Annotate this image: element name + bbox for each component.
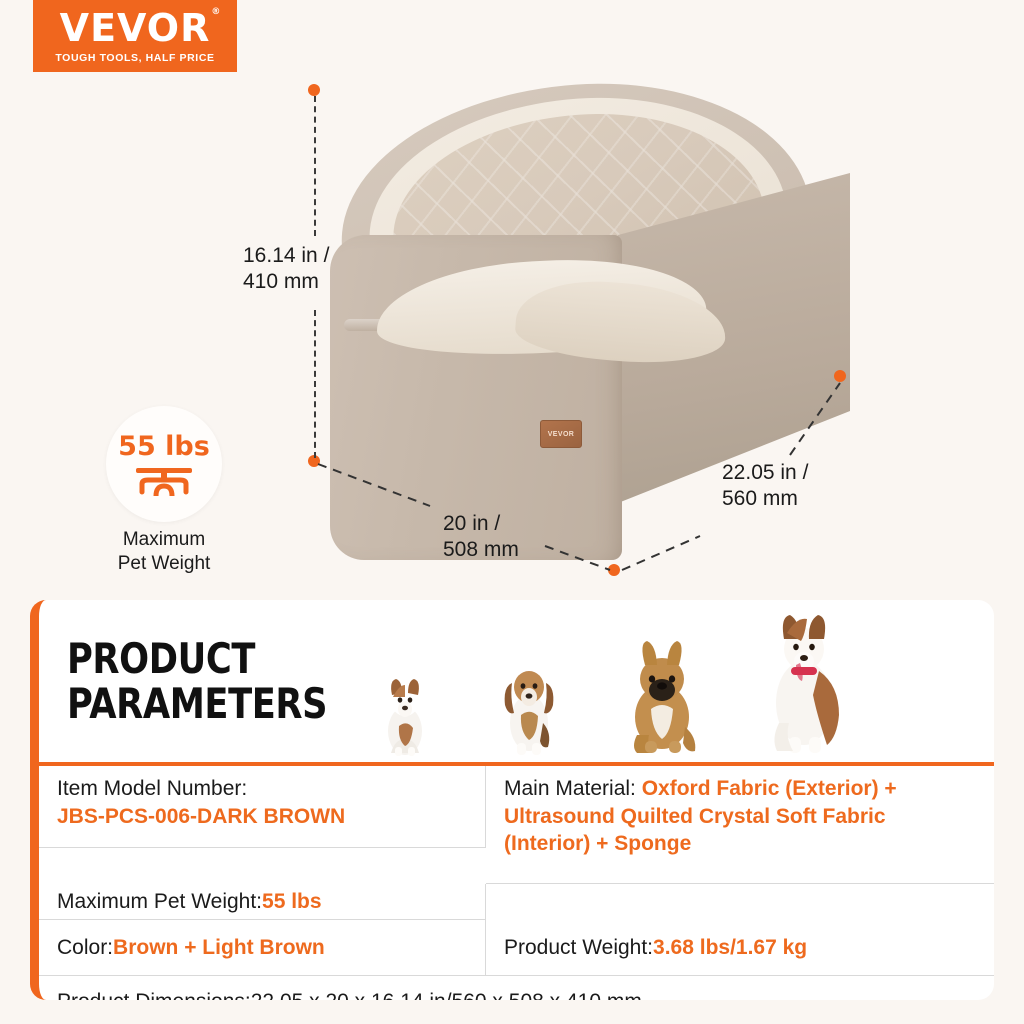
model-value: JBS-PCS-006-DARK BROWN — [57, 803, 345, 831]
dog-pit-bull-terrier — [747, 611, 865, 762]
dimension-height-line1: 16.14 in / — [243, 243, 329, 269]
product-parameters-card: PRODUCT PARAMETERS — [30, 600, 994, 1000]
dimension-height-line2: 410 mm — [243, 269, 329, 295]
dimension-width-line2: 508 mm — [443, 537, 519, 563]
weight-scale-icon — [132, 462, 196, 496]
table-cell-spacer — [486, 884, 994, 920]
dimension-label-depth: 22.05 in / 560 mm — [722, 460, 808, 511]
page-title-line1: PRODUCT — [67, 636, 327, 681]
max-weight-badge: 55 lbs Maximum Pet Weight — [96, 406, 232, 576]
max-weight-label: Maximum Pet Weight: — [57, 888, 262, 916]
dimensions-label: Product Dimensions: — [57, 990, 251, 1000]
table-cell-material: Main Material: Oxford Fabric (Exterior) … — [486, 766, 994, 884]
table-cell-max-weight: Maximum Pet Weight: 55 lbs — [39, 884, 486, 920]
max-weight-table-value: 55 lbs — [262, 888, 322, 916]
card-header: PRODUCT PARAMETERS — [39, 600, 994, 766]
page-title: PRODUCT PARAMETERS — [67, 636, 327, 727]
dimension-dot-right — [834, 370, 846, 382]
dog-jack-russell-terrier — [359, 671, 451, 762]
table-cell-color: Color: Brown + Light Brown — [39, 920, 486, 976]
dimension-line-height-lower — [314, 310, 316, 458]
table-cell-product-weight: Product Weight: 3.68 lbs/1.67 kg — [486, 920, 994, 976]
dimension-depth-line2: 560 mm — [722, 486, 808, 512]
dog-french-bulldog — [607, 639, 717, 762]
dimension-dot-top-left — [308, 84, 320, 96]
model-label: Item Model Number: — [57, 775, 345, 803]
dimension-width-line1: 20 in / — [443, 511, 519, 537]
parameters-table: Item Model Number: JBS-PCS-006-DARK BROW… — [39, 766, 994, 1000]
dimension-line-height-upper — [314, 96, 316, 236]
infographic-page: VEVOR® TOUGH TOOLS, HALF PRICE VEVOR 16.… — [0, 0, 1024, 1024]
max-weight-caption-line2: Pet Weight — [96, 552, 232, 576]
table-cell-model: Item Model Number: JBS-PCS-006-DARK BROW… — [39, 766, 486, 848]
material-label: Main Material: — [504, 777, 642, 800]
dog-beagle — [481, 653, 577, 762]
color-value: Brown + Light Brown — [113, 934, 325, 962]
dimension-depth-line1: 22.05 in / — [722, 460, 808, 486]
dimension-dot-bottom-center — [608, 564, 620, 576]
brand-leather-tag: VEVOR — [540, 420, 582, 448]
page-title-line2: PARAMETERS — [67, 681, 327, 726]
max-weight-circle: 55 lbs — [106, 406, 222, 522]
max-weight-caption: Maximum Pet Weight — [96, 528, 232, 576]
header-divider — [39, 762, 994, 766]
max-weight-value: 55 lbs — [118, 433, 210, 460]
product-weight-value: 3.68 lbs/1.67 kg — [653, 934, 807, 962]
hero-product-section: VEVOR 16.14 in / 410 mm 20 in / 508 mm 2… — [0, 0, 1024, 600]
max-weight-caption-line1: Maximum — [96, 528, 232, 552]
dimension-label-height: 16.14 in / 410 mm — [243, 243, 329, 294]
color-label: Color: — [57, 934, 113, 962]
brand-leather-tag-text: VEVOR — [548, 431, 575, 438]
table-cell-dimensions: Product Dimensions: 22.05 x 20 x 16.14 i… — [39, 976, 994, 1000]
dimension-label-width: 20 in / 508 mm — [443, 511, 519, 562]
dimensions-value: 22.05 x 20 x 16.14 in/560 x 508 x 410 mm — [251, 990, 642, 1000]
product-weight-label: Product Weight: — [504, 934, 653, 962]
dog-size-illustrations — [359, 616, 979, 762]
